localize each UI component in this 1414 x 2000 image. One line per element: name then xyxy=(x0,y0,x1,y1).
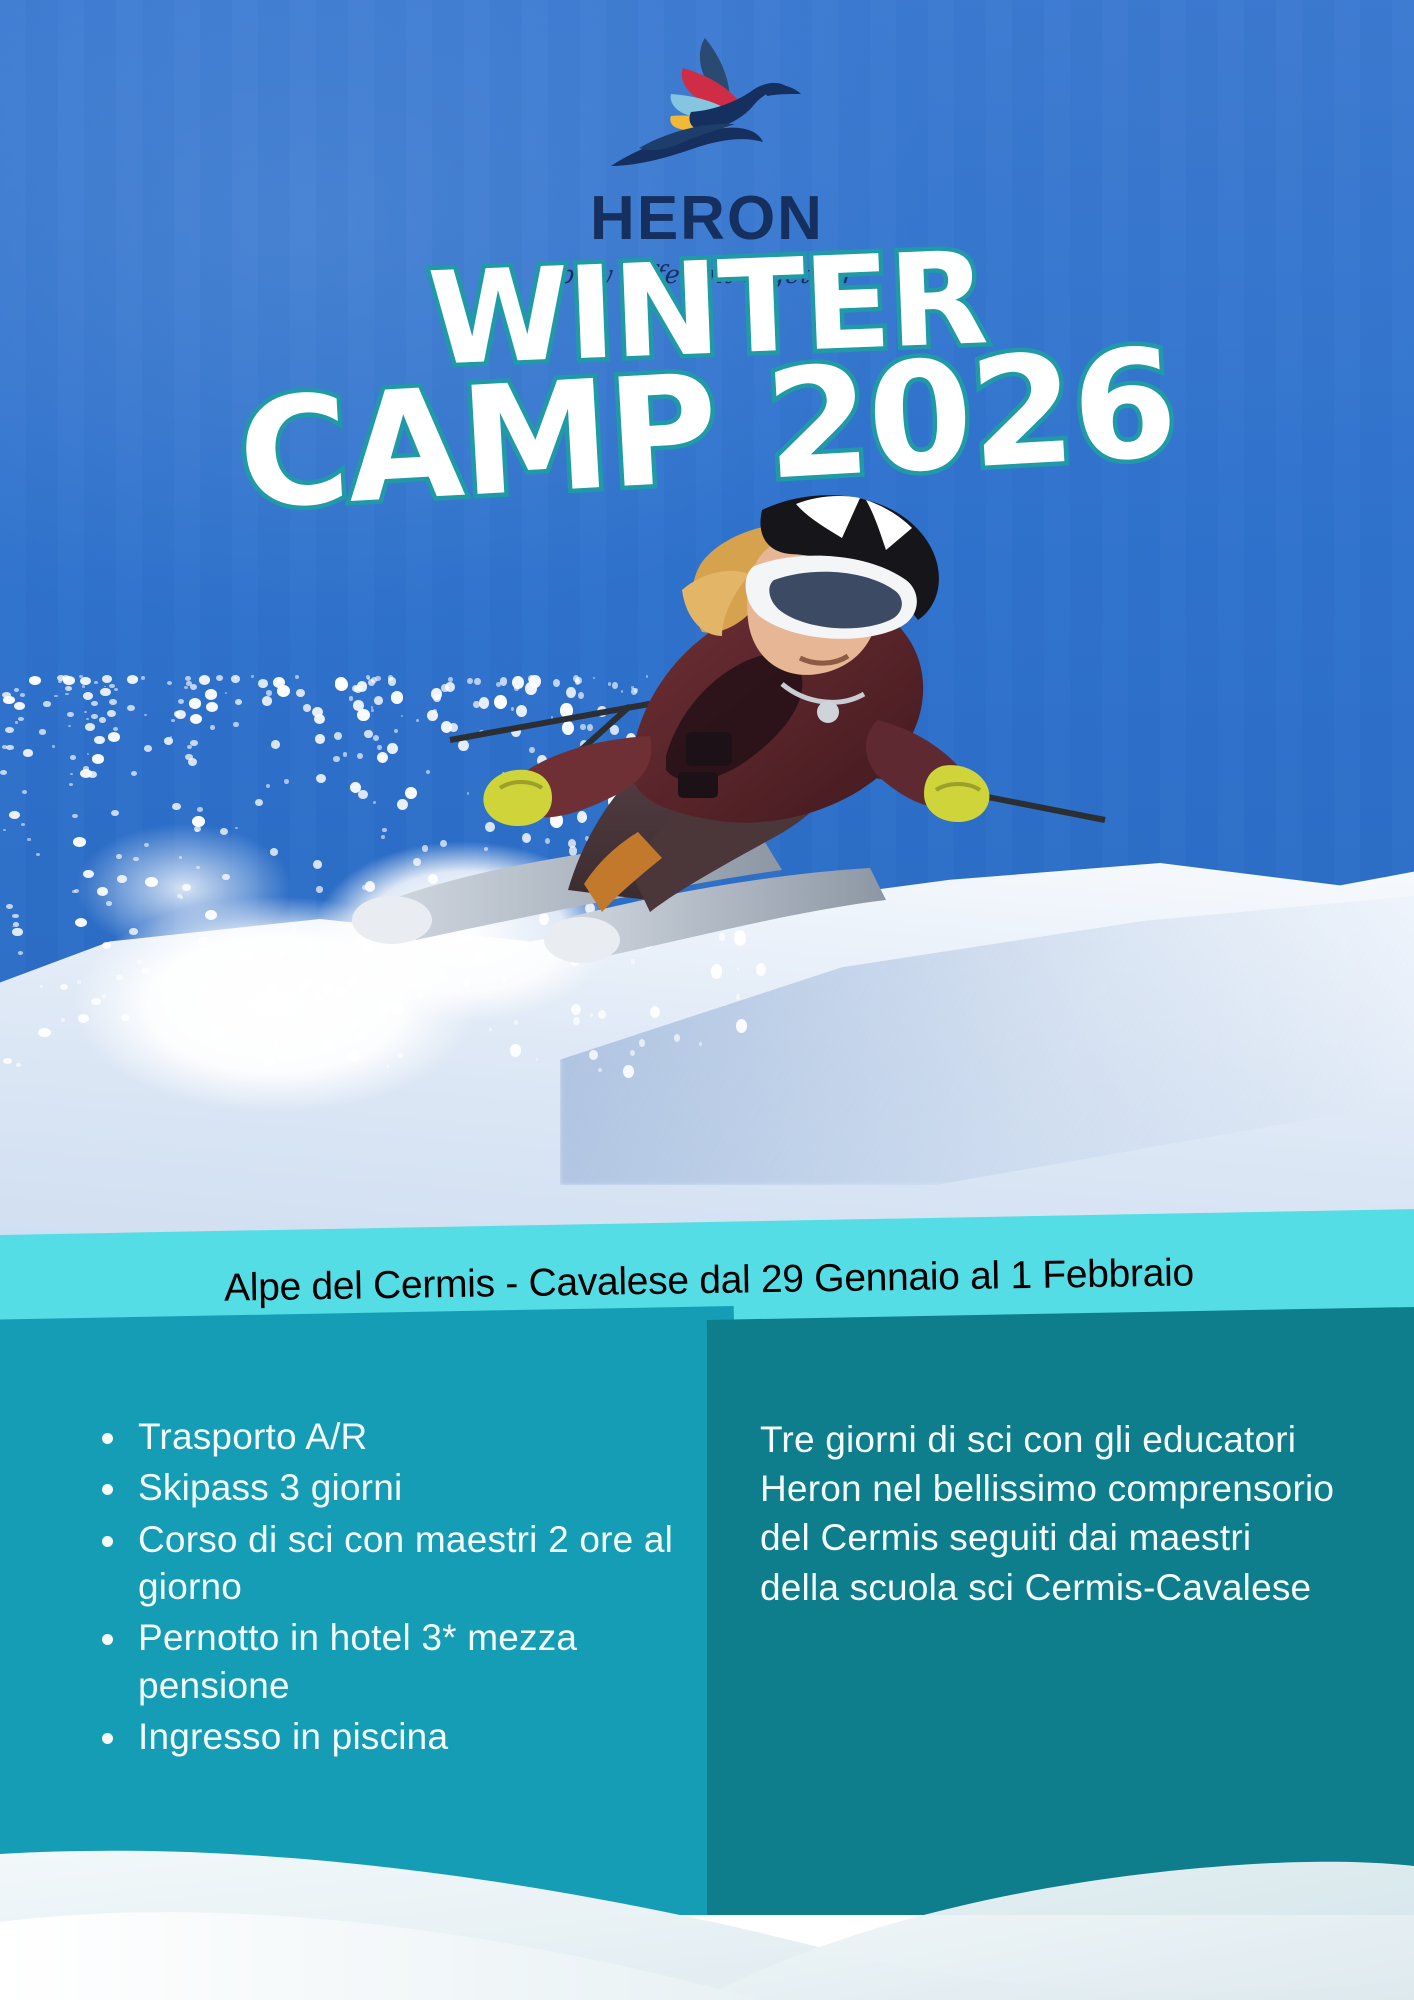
list-item: Corso di sci con maestri 2 ore al giorno xyxy=(96,1516,676,1611)
list-item: Trasporto A/R xyxy=(96,1413,676,1460)
list-item: Pernotto in hotel 3* mezza pensione xyxy=(96,1614,676,1709)
info-panels: Trasporto A/RSkipass 3 giorniCorso di sc… xyxy=(0,1335,1414,1915)
poster-root: HERON play different together WINTER CAM… xyxy=(0,0,1414,2000)
skier-illustration xyxy=(330,470,1150,1090)
date-band-text: Alpe del Cermis - Cavalese dal 29 Gennai… xyxy=(224,1251,1194,1310)
inclusions-list: Trasporto A/RSkipass 3 giorniCorso di sc… xyxy=(96,1413,676,1765)
poster-title: WINTER CAMP 2026 xyxy=(0,250,1414,501)
list-item: Skipass 3 giorni xyxy=(96,1464,676,1511)
footer-waves xyxy=(0,1830,1414,2000)
hero-photo: HERON play different together WINTER CAM… xyxy=(0,0,1414,1245)
description-text: Tre giorni di sci con gli educatori Hero… xyxy=(760,1415,1340,1612)
list-item: Ingresso in piscina xyxy=(96,1713,676,1760)
heron-bird-logo-icon xyxy=(587,34,827,184)
